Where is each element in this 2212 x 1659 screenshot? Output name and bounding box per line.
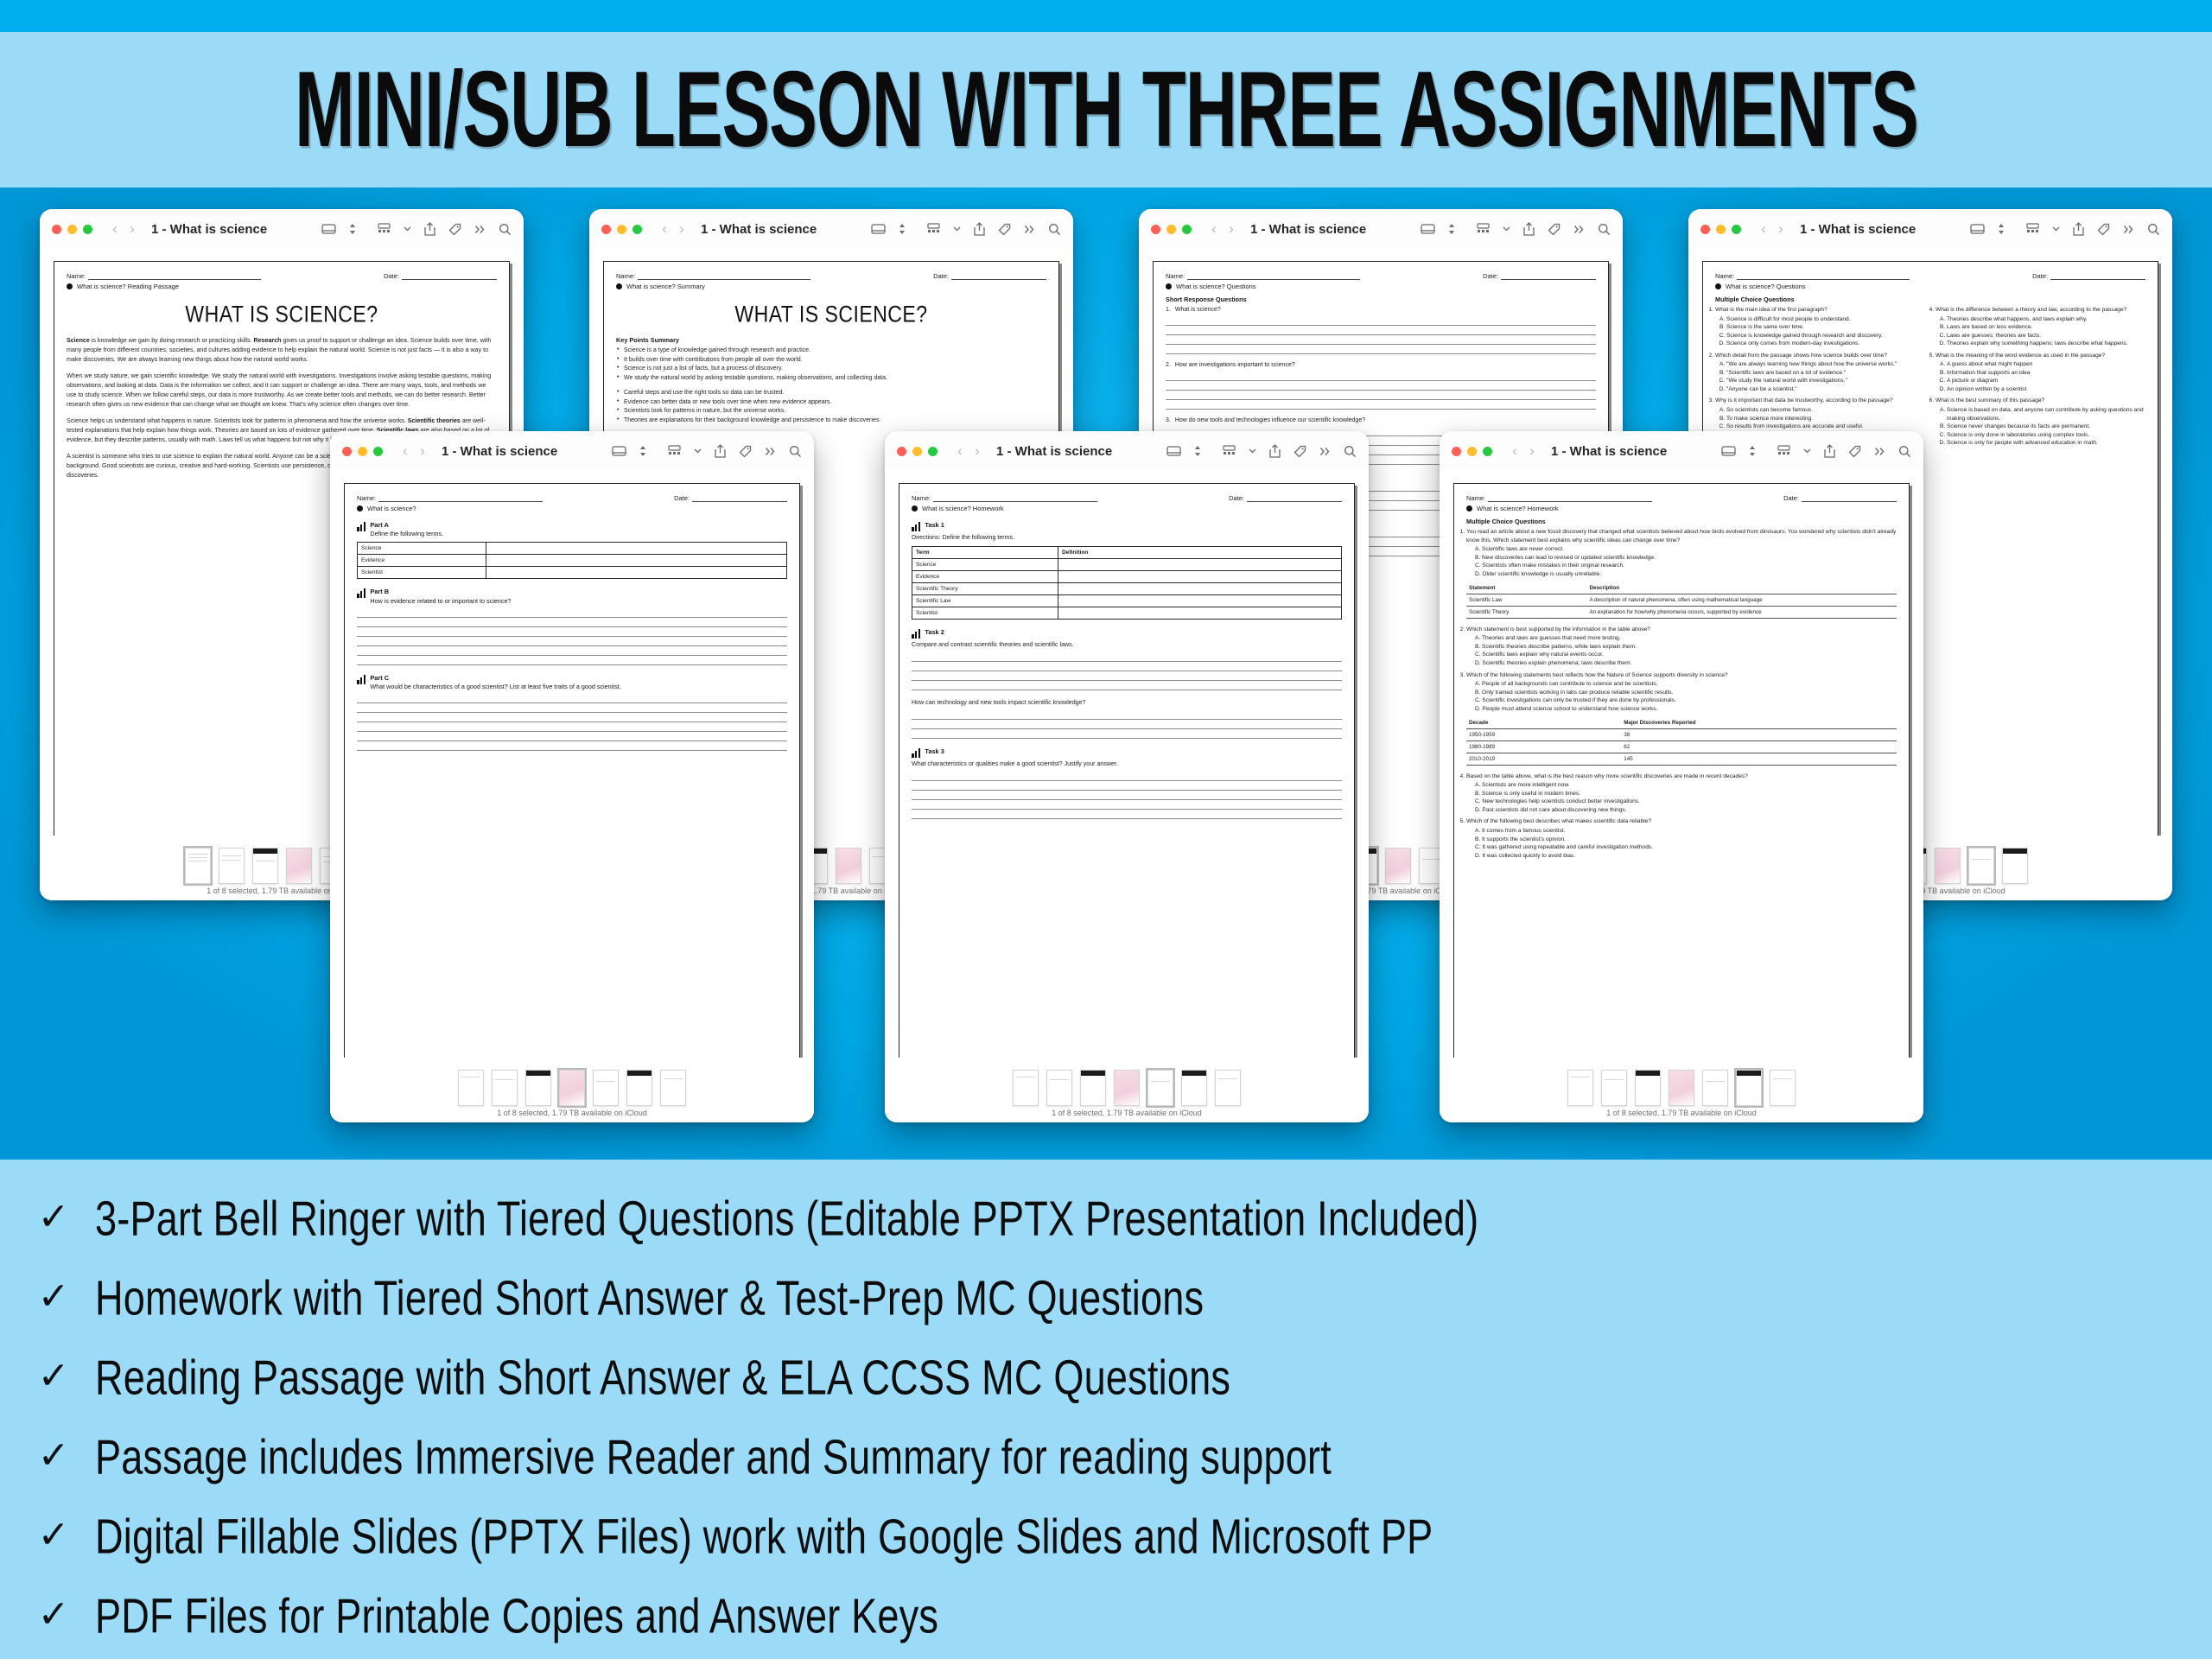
name-label: Name: bbox=[616, 272, 635, 280]
passage-paragraph: Science is knowledge we gain by doing re… bbox=[67, 336, 497, 365]
tag-icon[interactable] bbox=[739, 445, 752, 458]
feature-text: 3-Part Bell Ringer with Tiered Questions… bbox=[95, 1190, 1478, 1247]
view-mode-icon[interactable] bbox=[612, 445, 626, 457]
back-icon[interactable]: ‹ bbox=[397, 442, 414, 460]
view-mode-icon[interactable] bbox=[1721, 445, 1736, 457]
task-label: Task 3 bbox=[925, 747, 944, 756]
mc-option[interactable]: Science is only done in laboratories usi… bbox=[1947, 431, 2145, 440]
table-cell: Scientific Law bbox=[1466, 594, 1586, 606]
table-cell[interactable] bbox=[1058, 558, 1341, 570]
feature-text: Digital Fillable Slides (PPTX Files) wor… bbox=[95, 1508, 1433, 1565]
forward-icon[interactable]: › bbox=[1523, 442, 1541, 460]
mc-option[interactable]: B. It supports the scientist's opinion. bbox=[1475, 836, 1897, 844]
bullet-dot-icon bbox=[1166, 283, 1172, 289]
definitions-table: TermDefinition Science Evidence Scientif… bbox=[912, 546, 1342, 620]
worksheet-subtitle: What is science? Questions bbox=[1726, 283, 1806, 290]
thumbnail-item[interactable] bbox=[1181, 1070, 1207, 1106]
mc-option[interactable]: C. It was gathered using repeatable and … bbox=[1475, 843, 1897, 852]
view-mode-icon[interactable] bbox=[1166, 445, 1181, 457]
date-label: Date: bbox=[1229, 494, 1244, 502]
tag-icon[interactable] bbox=[1848, 445, 1861, 458]
date-label: Date: bbox=[384, 272, 399, 280]
search-icon[interactable] bbox=[1048, 223, 1061, 236]
date-label: Date: bbox=[933, 272, 949, 280]
table-cell: Evidence bbox=[912, 570, 1058, 582]
tag-icon[interactable] bbox=[998, 223, 1011, 236]
window-footer: 1 of 8 selected, 1.79 TB available on iC… bbox=[885, 1058, 1369, 1122]
more-icon[interactable] bbox=[2123, 225, 2134, 234]
thumbnail-item[interactable] bbox=[1215, 1070, 1241, 1106]
table-cell: 145 bbox=[1621, 753, 1897, 765]
list-item: It builds over time with contributions f… bbox=[616, 356, 1046, 365]
table-cell: Scientist bbox=[358, 567, 486, 579]
bar-chart-icon bbox=[357, 675, 365, 684]
section-heading: Multiple Choice Questions bbox=[1715, 296, 2145, 303]
thumbnail-strip[interactable] bbox=[342, 1058, 802, 1106]
traffic-lights[interactable] bbox=[1452, 447, 1492, 456]
share-icon[interactable] bbox=[2073, 222, 2084, 236]
task-followup: How can technology and new tools impact … bbox=[912, 698, 1342, 708]
thumbnail-item[interactable] bbox=[252, 848, 278, 884]
window-title: 1 - What is science bbox=[996, 444, 1112, 459]
table-header: Statement bbox=[1466, 582, 1586, 594]
thumbnail-item[interactable] bbox=[1736, 1070, 1762, 1106]
mc-option[interactable]: C. New technologies help scientists cond… bbox=[1475, 798, 1897, 806]
bar-chart-icon bbox=[912, 748, 920, 758]
view-mode-icon[interactable] bbox=[1421, 223, 1435, 235]
section-heading: Short Response Questions bbox=[1166, 296, 1596, 303]
chevron-down-icon[interactable] bbox=[404, 226, 411, 232]
search-icon[interactable] bbox=[2147, 223, 2160, 236]
thumbnail-item[interactable] bbox=[1567, 1070, 1593, 1106]
stepper-icon[interactable] bbox=[1998, 223, 2005, 235]
thumbnail-strip[interactable] bbox=[897, 1058, 1357, 1106]
traffic-lights[interactable] bbox=[897, 447, 938, 456]
mc-option[interactable]: B. New discoveries can lead to revised o… bbox=[1475, 554, 1897, 563]
mc-question-list: Which statement is best supported by the… bbox=[1466, 626, 1897, 713]
question-list: What is science? bbox=[1166, 307, 1596, 313]
name-label: Name: bbox=[1715, 272, 1734, 280]
back-icon[interactable]: ‹ bbox=[951, 442, 969, 460]
list-item: Theories are explanations for their back… bbox=[616, 416, 1046, 426]
worksheet-homework: Name: Date: What is science? Homework Ta… bbox=[899, 483, 1355, 1122]
more-icon[interactable] bbox=[765, 447, 776, 456]
answer-lines bbox=[912, 710, 1342, 739]
grid-menu-icon[interactable] bbox=[668, 445, 681, 457]
thumbnail-item[interactable] bbox=[836, 848, 861, 884]
forward-icon[interactable]: › bbox=[673, 220, 690, 238]
search-icon[interactable] bbox=[499, 223, 512, 236]
poster-canvas: MINI/SUB LESSON WITH THREE ASSIGNMENTS ‹… bbox=[0, 0, 2212, 1659]
traffic-lights[interactable] bbox=[342, 447, 383, 456]
feature-text: Reading Passage with Short Answer & ELA … bbox=[95, 1349, 1230, 1406]
check-icon: ✓ bbox=[35, 1513, 73, 1557]
thumbnail-item[interactable] bbox=[1601, 1070, 1627, 1106]
thumbnail-item[interactable] bbox=[1935, 848, 1961, 884]
tag-icon[interactable] bbox=[448, 223, 461, 236]
table-cell[interactable] bbox=[1058, 607, 1341, 619]
list-item: We study the natural world by asking tes… bbox=[616, 374, 1046, 384]
mc-option[interactable]: Science is the same over time. bbox=[1726, 323, 1925, 332]
forward-icon[interactable]: › bbox=[414, 442, 431, 460]
thumbnail-item[interactable] bbox=[1635, 1070, 1661, 1106]
bar-chart-icon bbox=[357, 522, 365, 531]
thumbnail-item[interactable] bbox=[593, 1070, 619, 1106]
top-accent-stripe bbox=[0, 0, 2212, 32]
search-icon[interactable] bbox=[789, 445, 802, 458]
back-icon[interactable]: ‹ bbox=[1205, 220, 1223, 238]
mc-option[interactable]: "Scientific laws are based on a lot of e… bbox=[1726, 369, 1925, 378]
bar-chart-icon bbox=[357, 588, 365, 598]
thumbnail-item[interactable] bbox=[1080, 1070, 1106, 1106]
task-2-header: Task 2 bbox=[912, 628, 1342, 639]
mc-option[interactable]: Theories describe what happens, and laws… bbox=[1947, 315, 2145, 324]
window-footer: 1 of 8 selected, 1.79 TB available on iC… bbox=[1440, 1058, 1923, 1122]
view-mode-icon[interactable] bbox=[871, 223, 886, 235]
table-cell: An explanation for how/why phenomena occ… bbox=[1586, 606, 1897, 618]
thumbnail-item[interactable] bbox=[458, 1070, 484, 1106]
stepper-icon[interactable] bbox=[1194, 445, 1201, 457]
thumbnail-item[interactable] bbox=[1669, 1070, 1694, 1106]
back-icon[interactable]: ‹ bbox=[1755, 220, 1772, 238]
search-icon[interactable] bbox=[1344, 445, 1357, 458]
table-cell: Evidence bbox=[358, 555, 486, 567]
window-homework-mc[interactable]: ‹ › 1 - What is science bbox=[1440, 431, 1923, 1122]
window-titlebar[interactable]: ‹ › 1 - What is science bbox=[885, 431, 1369, 471]
document-canvas: Name: Date: What is science? Part ADefin… bbox=[330, 471, 814, 1122]
stepper-icon[interactable] bbox=[1448, 223, 1455, 235]
thumbnail-item[interactable] bbox=[626, 1070, 652, 1106]
list-item: How do new tools and technologies influe… bbox=[1166, 417, 1596, 423]
mc-option[interactable]: Science is based on data, and anyone can… bbox=[1947, 406, 2145, 423]
tag-icon[interactable] bbox=[1294, 445, 1306, 458]
mc-option[interactable]: Science is knowledge gained through rese… bbox=[1726, 332, 1925, 340]
thumbnail-item[interactable] bbox=[2002, 848, 2028, 884]
answer-lines bbox=[912, 652, 1342, 690]
list-item: You read an article about a new fossil d… bbox=[1466, 528, 1897, 578]
window-titlebar[interactable]: ‹ › 1 - What is science bbox=[1139, 209, 1623, 249]
chevron-down-icon[interactable] bbox=[1503, 226, 1510, 232]
more-icon[interactable] bbox=[1573, 225, 1585, 234]
mc-option[interactable]: A picture or diagram bbox=[1947, 377, 2145, 385]
mc-option[interactable]: So results from investigations are accur… bbox=[1726, 423, 1925, 431]
section-heading: Key Points Summary bbox=[616, 336, 1046, 344]
traffic-lights[interactable] bbox=[1700, 225, 1741, 234]
question-list: How are investigations important to scie… bbox=[1166, 362, 1596, 368]
feature-row: ✓ Digital Fillable Slides (PPTX Files) w… bbox=[35, 1497, 2212, 1576]
mc-option[interactable]: Laws are guesses; theories are facts. bbox=[1947, 332, 2145, 340]
traffic-lights[interactable] bbox=[52, 225, 92, 234]
table-header: Definition bbox=[1058, 546, 1341, 558]
question-list: How do new tools and technologies influe… bbox=[1166, 417, 1596, 423]
table-cell[interactable] bbox=[486, 555, 787, 567]
part-prompt: Define the following terms. bbox=[370, 530, 443, 537]
thumbnail-item[interactable] bbox=[525, 1070, 551, 1106]
key-points-list-extra: Careful steps and use the right tools so… bbox=[616, 389, 1046, 425]
window-titlebar[interactable]: ‹ › 1 - What is science bbox=[40, 209, 524, 249]
list-item: What is the main idea of the first parag… bbox=[1715, 306, 1925, 348]
decade-table: DecadeMajor Discoveries Reported 1950-19… bbox=[1466, 716, 1897, 766]
thumbnail-item[interactable] bbox=[1968, 848, 1994, 884]
thumbnail-item[interactable] bbox=[1013, 1070, 1039, 1106]
thumbnail-item[interactable] bbox=[219, 848, 245, 884]
bar-chart-icon bbox=[912, 629, 920, 639]
thumbnail-item[interactable] bbox=[492, 1070, 518, 1106]
feature-row: ✓ Passage includes Immersive Reader and … bbox=[35, 1417, 2212, 1497]
worksheet-heading: WHAT IS SCIENCE? bbox=[616, 301, 1046, 328]
check-icon: ✓ bbox=[35, 1354, 73, 1398]
bullet-dot-icon bbox=[616, 283, 622, 289]
mc-question-list: Based on the table above, what is the be… bbox=[1466, 772, 1897, 860]
mc-option[interactable]: C. Scientific investigations can only be… bbox=[1475, 696, 1897, 705]
mc-question-list: What is the main idea of the first parag… bbox=[1715, 306, 1925, 439]
chevron-down-icon[interactable] bbox=[953, 226, 961, 232]
back-icon[interactable]: ‹ bbox=[106, 220, 124, 238]
traffic-lights[interactable] bbox=[1151, 225, 1192, 234]
name-label: Name: bbox=[1466, 494, 1485, 502]
mc-option[interactable]: A. People of all backgrounds can contrib… bbox=[1475, 680, 1897, 689]
mc-option[interactable]: A. Theories and laws are guesses that ne… bbox=[1475, 634, 1897, 643]
answer-lines bbox=[1166, 372, 1596, 410]
list-item: What is the meaning of the word evidence… bbox=[1935, 352, 2145, 394]
worksheet-subtitle: What is science? Summary bbox=[626, 283, 705, 290]
document-canvas: Name: Date: What is science? Homework Ta… bbox=[885, 471, 1369, 1122]
thumbnail-item[interactable] bbox=[1385, 848, 1411, 884]
share-icon[interactable] bbox=[1269, 444, 1281, 458]
mc-column-left: What is the main idea of the first parag… bbox=[1715, 306, 1925, 451]
mc-option[interactable]: So scientists can become famous. bbox=[1726, 406, 1925, 415]
search-icon[interactable] bbox=[1598, 223, 1611, 236]
table-cell[interactable] bbox=[486, 543, 787, 555]
tag-icon[interactable] bbox=[1548, 223, 1560, 236]
check-icon: ✓ bbox=[35, 1274, 73, 1319]
mc-option[interactable]: "We study the natural world with investi… bbox=[1726, 377, 1925, 385]
window-titlebar[interactable]: ‹ › 1 - What is science bbox=[589, 209, 1073, 249]
table-cell[interactable] bbox=[486, 567, 787, 579]
part-prompt: What would be characteristics of a good … bbox=[370, 683, 620, 690]
table-cell: 1950-1959 bbox=[1466, 728, 1621, 741]
grid-menu-icon[interactable] bbox=[1477, 223, 1490, 235]
statement-table: StatementDescription Scientific LawA des… bbox=[1466, 582, 1897, 619]
stepper-icon[interactable] bbox=[349, 223, 356, 235]
list-item: What is science? bbox=[1166, 307, 1596, 313]
thumbnail-strip[interactable] bbox=[1452, 1058, 1911, 1106]
mc-option[interactable]: B. Only trained scientists working in la… bbox=[1475, 689, 1897, 697]
part-a-header: Part ADefine the following terms. bbox=[357, 521, 787, 538]
mc-option[interactable]: C. Scientific laws explain why natural e… bbox=[1475, 651, 1897, 659]
more-icon[interactable] bbox=[1874, 447, 1885, 456]
forward-icon[interactable]: › bbox=[1223, 220, 1240, 238]
feature-row: ✓ PDF Files for Printable Copies and Ans… bbox=[35, 1576, 2212, 1656]
window-titlebar[interactable]: ‹ › 1 - What is science bbox=[1440, 431, 1923, 471]
table-cell: 1980-1989 bbox=[1466, 741, 1621, 753]
mc-option[interactable]: D. Scientific theories explain phenomena… bbox=[1475, 659, 1897, 668]
mc-option[interactable]: B. Science is only useful in modern time… bbox=[1475, 790, 1897, 798]
table-header: Term bbox=[912, 546, 1058, 558]
worksheet-subtitle: What is science? Homework bbox=[922, 505, 1004, 512]
feature-text: Homework with Tiered Short Answer & Test… bbox=[95, 1269, 1204, 1326]
worksheet-bell-ringer: Name: Date: What is science? Part ADefin… bbox=[344, 483, 800, 1122]
date-label: Date: bbox=[1483, 272, 1498, 280]
thumbnail-item[interactable] bbox=[660, 1070, 686, 1106]
stepper-icon[interactable] bbox=[899, 223, 906, 235]
mc-option[interactable]: Science is only for people with advanced… bbox=[1947, 439, 2145, 448]
name-label: Name: bbox=[1166, 272, 1185, 280]
mc-option[interactable]: "Anyone can be a scientist." bbox=[1726, 385, 1925, 394]
document-canvas: Name: Date: What is science? Homework Mu… bbox=[1440, 471, 1923, 1122]
share-icon[interactable] bbox=[974, 222, 985, 236]
stepper-icon[interactable] bbox=[639, 445, 646, 457]
thumbnail-item[interactable] bbox=[1770, 1070, 1796, 1106]
name-label: Name: bbox=[67, 272, 86, 280]
grid-menu-icon[interactable] bbox=[1777, 445, 1790, 457]
bullet-dot-icon bbox=[1715, 283, 1721, 289]
chevron-down-icon[interactable] bbox=[1249, 448, 1256, 454]
back-icon[interactable]: ‹ bbox=[656, 220, 673, 238]
task-3-header: Task 3 bbox=[912, 747, 1342, 758]
thumbnail-item[interactable] bbox=[185, 848, 211, 884]
check-icon: ✓ bbox=[35, 1433, 73, 1478]
list-item: Careful steps and use the right tools so… bbox=[616, 389, 1046, 398]
worksheet-subtitle: What is science? Reading Passage bbox=[77, 283, 179, 290]
share-icon[interactable] bbox=[1824, 444, 1835, 458]
mc-option[interactable]: Theories explain why something happens; … bbox=[1947, 340, 2145, 348]
view-mode-icon[interactable] bbox=[1970, 223, 1985, 235]
chevron-down-icon[interactable] bbox=[694, 448, 702, 454]
table-cell[interactable] bbox=[1058, 594, 1341, 607]
window-titlebar[interactable]: ‹ › 1 - What is science bbox=[1688, 209, 2172, 249]
back-icon[interactable]: ‹ bbox=[1506, 442, 1523, 460]
thumbnail-item[interactable] bbox=[1114, 1070, 1140, 1106]
feature-row: ✓ Homework with Tiered Short Answer & Te… bbox=[35, 1258, 2212, 1338]
grid-menu-icon[interactable] bbox=[2026, 223, 2039, 235]
mc-option[interactable]: B. Scientific theories describe patterns… bbox=[1475, 643, 1897, 652]
table-cell: Scientist bbox=[912, 607, 1058, 619]
more-icon[interactable] bbox=[1024, 225, 1035, 234]
worksheet-homework-mc: Name: Date: What is science? Homework Mu… bbox=[1453, 483, 1910, 1122]
list-item: Science is a type of knowledge gained th… bbox=[616, 346, 1046, 356]
task-label: Task 2 bbox=[925, 628, 944, 637]
more-icon[interactable] bbox=[1319, 447, 1331, 456]
bullet-dot-icon bbox=[912, 505, 918, 512]
mc-option[interactable]: D. Past scientists did not care about di… bbox=[1475, 806, 1897, 815]
mc-option[interactable]: A. Scientists are more intelligent now. bbox=[1475, 781, 1897, 790]
feature-text: PDF Files for Printable Copies and Answe… bbox=[95, 1587, 938, 1644]
table-cell: A description of natural phenomena, ofte… bbox=[1586, 594, 1897, 606]
bullet-dot-icon bbox=[67, 283, 73, 289]
task-prompt: Directions: Define the following terms. bbox=[912, 533, 1342, 543]
more-icon[interactable] bbox=[474, 225, 486, 234]
table-cell: Science bbox=[358, 543, 486, 555]
mc-option[interactable]: Information that supports an idea bbox=[1947, 369, 2145, 378]
table-cell: Scientific Law bbox=[912, 594, 1058, 607]
thumbnail-item[interactable] bbox=[1046, 1070, 1072, 1106]
feature-list: ✓ 3-Part Bell Ringer with Tiered Questio… bbox=[0, 1160, 2212, 1659]
mc-option[interactable]: C. Scientists often make mistakes in the… bbox=[1475, 562, 1897, 570]
share-icon[interactable] bbox=[715, 444, 726, 458]
window-homework[interactable]: ‹ › 1 - What is science bbox=[885, 431, 1369, 1122]
share-icon[interactable] bbox=[1523, 222, 1535, 236]
part-label: Part C bbox=[370, 674, 620, 683]
mc-option[interactable]: Science never changes because its facts … bbox=[1947, 423, 2145, 431]
worksheet-heading: WHAT IS SCIENCE? bbox=[67, 301, 497, 328]
tag-icon[interactable] bbox=[2097, 223, 2110, 236]
table-cell[interactable] bbox=[1058, 582, 1341, 594]
answer-lines bbox=[912, 772, 1342, 819]
mc-option[interactable]: Science is difficult for most people to … bbox=[1726, 315, 1925, 324]
list-item: Science is not just a list of facts, but… bbox=[616, 365, 1046, 374]
table-cell: Science bbox=[912, 558, 1058, 570]
page-title: MINI/SUB LESSON WITH THREE ASSIGNMENTS bbox=[295, 48, 1918, 172]
list-item: What is the best summary of this passage… bbox=[1935, 397, 2145, 447]
part-b-header: Part BHow is evidence related to or impo… bbox=[357, 588, 787, 605]
list-item: Which detail from the passage shows how … bbox=[1715, 352, 1925, 394]
mc-option[interactable]: D. People must attend science school to … bbox=[1475, 705, 1897, 714]
answer-lines bbox=[357, 694, 787, 751]
mc-option[interactable]: Science only comes from modern-day inves… bbox=[1726, 340, 1925, 348]
window-title: 1 - What is science bbox=[1250, 222, 1366, 237]
thumbnail-item[interactable] bbox=[559, 1070, 585, 1106]
search-icon[interactable] bbox=[1898, 445, 1911, 458]
table-cell[interactable] bbox=[1058, 570, 1341, 582]
traffic-lights[interactable] bbox=[601, 225, 642, 234]
task-prompt: Compare and contrast scientific theories… bbox=[912, 640, 1342, 650]
thumbnail-item[interactable] bbox=[1147, 1070, 1173, 1106]
table-cell: Scientific Theory bbox=[1466, 606, 1586, 618]
view-mode-icon[interactable] bbox=[321, 223, 336, 235]
grid-menu-icon[interactable] bbox=[1223, 445, 1236, 457]
mc-option[interactable]: An opinion written by a scientist bbox=[1947, 385, 2145, 394]
thumbnail-item[interactable] bbox=[286, 848, 312, 884]
mc-option[interactable]: D. It was collected quickly to avoid bia… bbox=[1475, 852, 1897, 861]
list-item: Based on the table above, what is the be… bbox=[1466, 772, 1897, 815]
chevron-down-icon[interactable] bbox=[2052, 226, 2060, 232]
list-item: Which statement is best supported by the… bbox=[1466, 626, 1897, 668]
mc-option[interactable]: D. Older scientific knowledge is usually… bbox=[1475, 570, 1897, 579]
window-title: 1 - What is science bbox=[701, 222, 817, 237]
mc-option[interactable]: A guess about what might happen bbox=[1947, 360, 2145, 369]
grid-menu-icon[interactable] bbox=[927, 223, 940, 235]
stepper-icon[interactable] bbox=[1749, 445, 1756, 457]
mc-option[interactable]: A. Scientific laws are never correct. bbox=[1475, 545, 1897, 554]
bullet-dot-icon bbox=[1466, 505, 1472, 512]
chevron-down-icon[interactable] bbox=[1803, 448, 1811, 454]
table-cell: Scientific Theory bbox=[912, 582, 1058, 594]
list-item: Evidence can better data or new tools ov… bbox=[616, 398, 1046, 408]
answer-lines bbox=[1166, 316, 1596, 354]
worksheet-subtitle: What is science? bbox=[367, 505, 416, 512]
table-cell: 38 bbox=[1621, 728, 1897, 741]
window-title: 1 - What is science bbox=[151, 222, 267, 237]
forward-icon[interactable]: › bbox=[1772, 220, 1789, 238]
window-titlebar[interactable]: ‹ › 1 - What is science bbox=[330, 431, 814, 471]
window-bell-ringer[interactable]: ‹ › 1 - What is science bbox=[330, 431, 814, 1122]
thumbnail-item[interactable] bbox=[1702, 1070, 1728, 1106]
worksheet-subtitle: What is science? Homework bbox=[1477, 505, 1559, 512]
date-label: Date: bbox=[2032, 272, 2048, 280]
task-prompt: What characteristics or qualities make a… bbox=[912, 760, 1342, 769]
mc-option[interactable]: A. It comes from a famous scientist. bbox=[1475, 827, 1897, 836]
part-c-header: Part CWhat would be characteristics of a… bbox=[357, 674, 787, 691]
grid-menu-icon[interactable] bbox=[378, 223, 391, 235]
share-icon[interactable] bbox=[424, 222, 435, 236]
forward-icon[interactable]: › bbox=[124, 220, 141, 238]
mc-option[interactable]: To make science more interesting. bbox=[1726, 415, 1925, 423]
forward-icon[interactable]: › bbox=[969, 442, 986, 460]
mc-option[interactable]: "We are always learning new things about… bbox=[1726, 360, 1925, 369]
mc-option[interactable]: Laws are based on less evidence. bbox=[1947, 323, 2145, 332]
feature-row: ✓ Reading Passage with Short Answer & EL… bbox=[35, 1338, 2212, 1417]
